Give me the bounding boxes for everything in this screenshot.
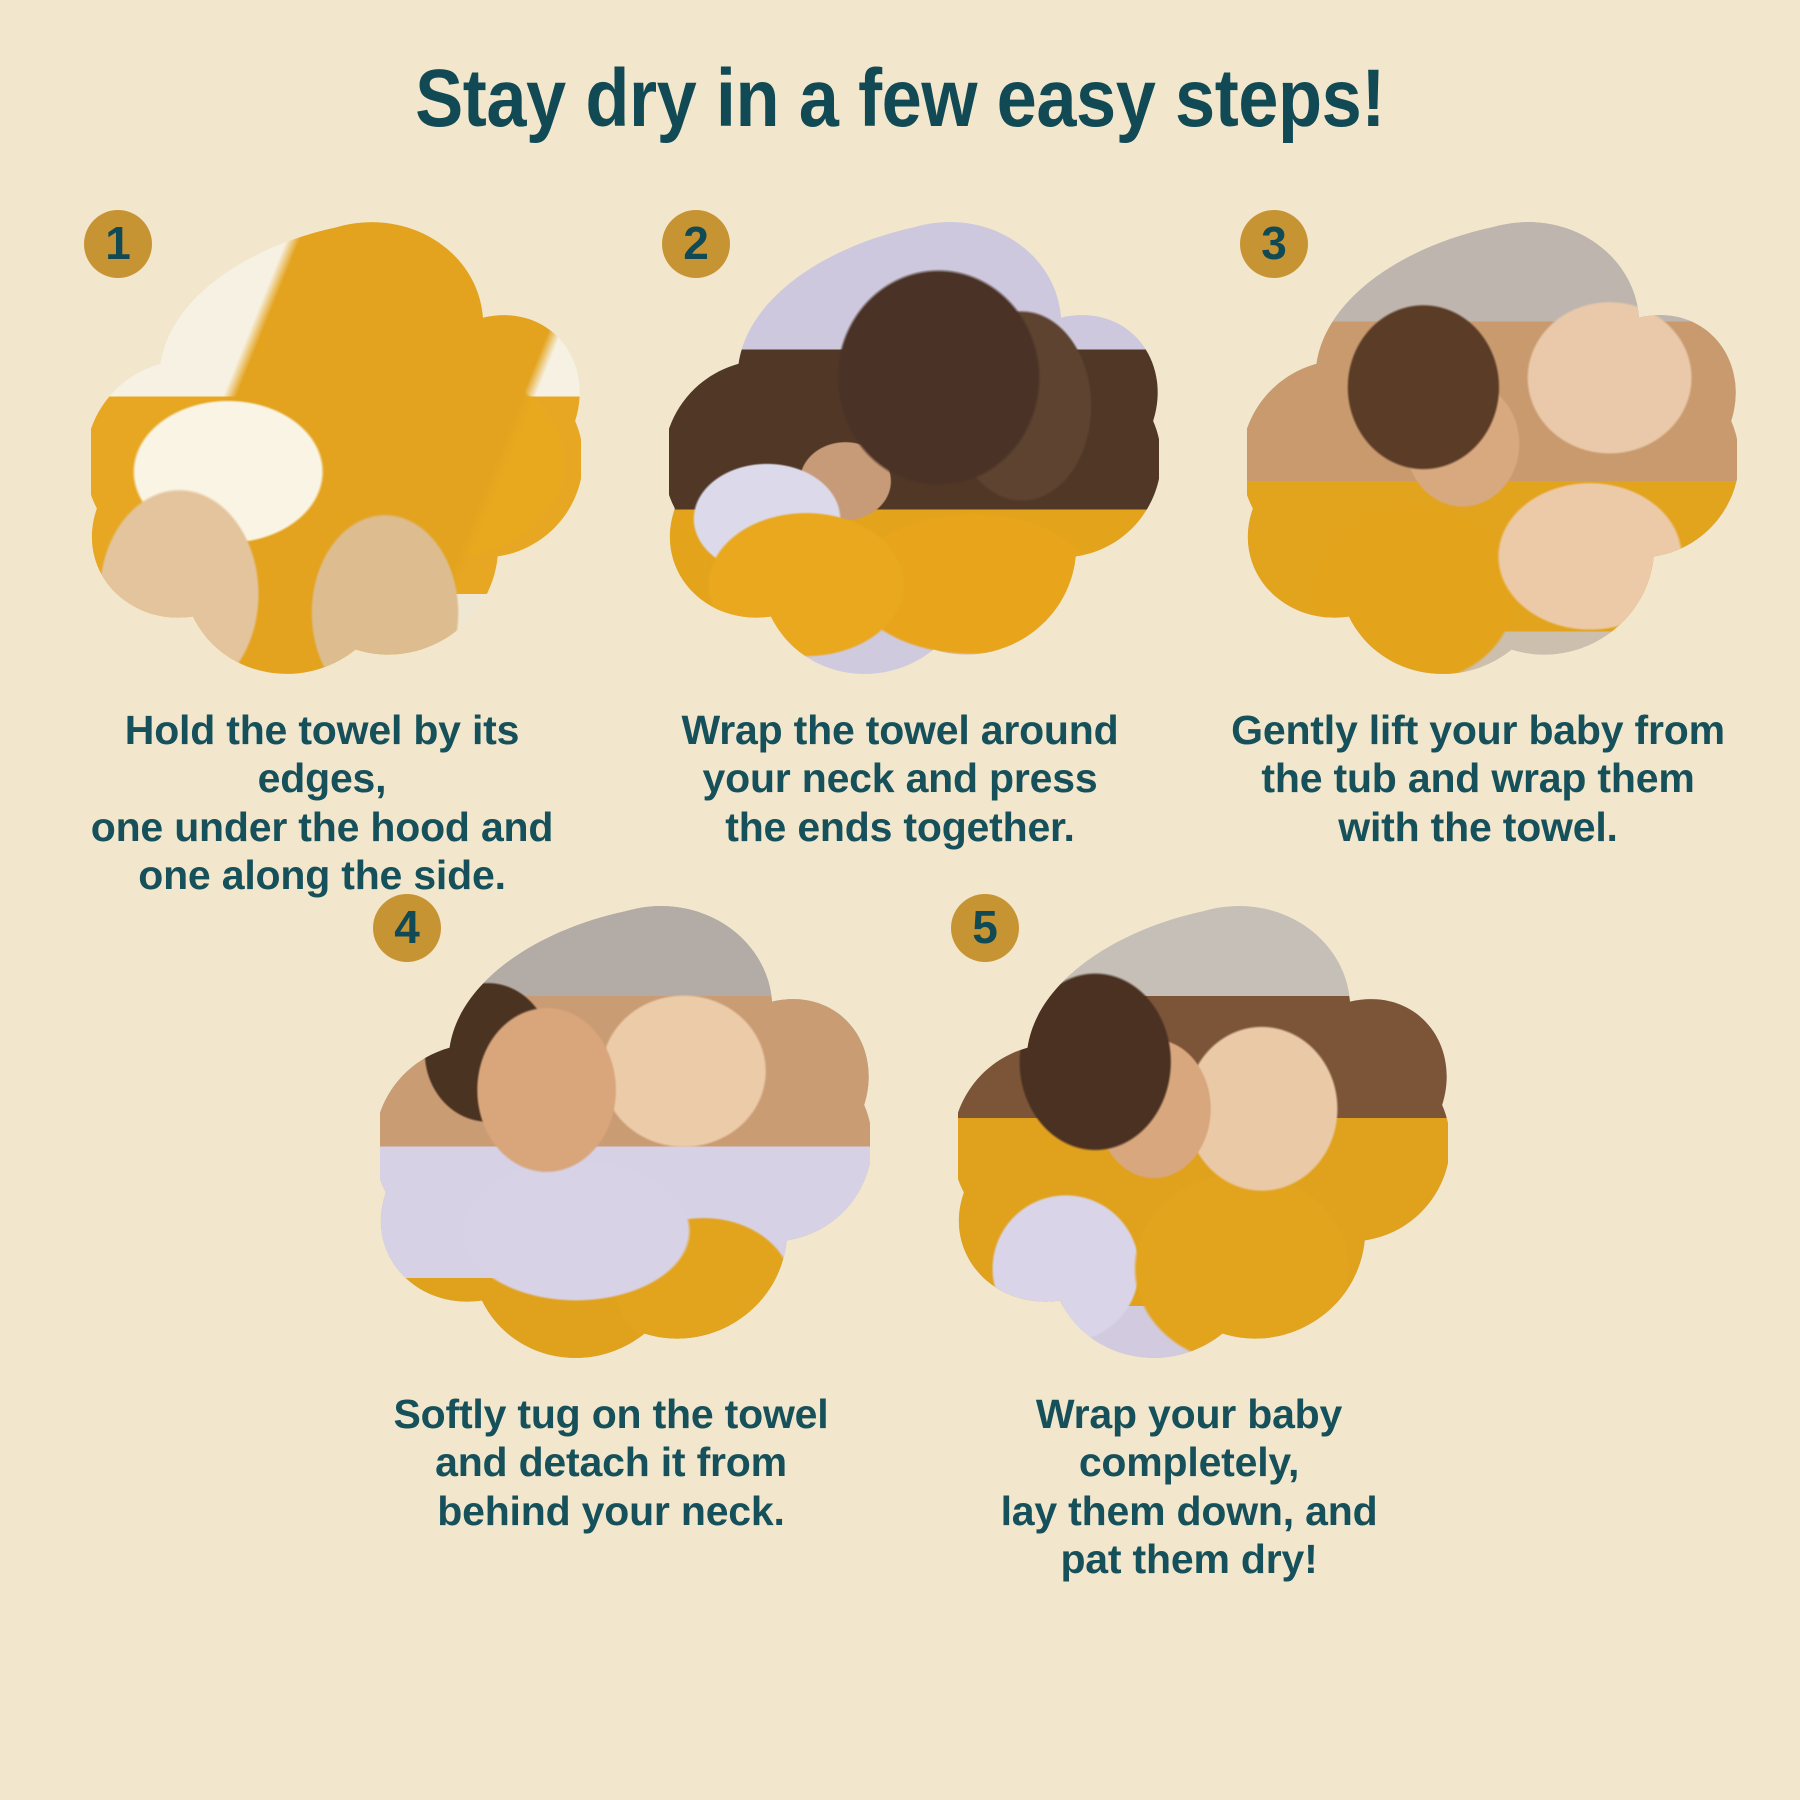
photo-art-2 bbox=[669, 218, 1159, 688]
photo-art-4 bbox=[380, 902, 870, 1372]
steps-row-bottom: 4 Softly tug on the towel and detach it … bbox=[0, 880, 1800, 1584]
photo-art-1 bbox=[91, 218, 581, 688]
caption-line: pat them dry! bbox=[924, 1535, 1454, 1583]
caption-line: one under the hood and bbox=[57, 803, 587, 851]
step-caption-1: Hold the towel by its edges, one under t… bbox=[57, 706, 587, 900]
step-image-3 bbox=[1247, 218, 1737, 688]
page-title: Stay dry in a few easy steps! bbox=[108, 52, 1692, 146]
step-image-2 bbox=[669, 218, 1159, 688]
step-card-4: 4 Softly tug on the towel and detach it … bbox=[331, 880, 891, 1584]
steps-row-top: 1 Hold the towel by its edges, one under… bbox=[0, 196, 1800, 900]
step-caption-5: Wrap your baby completely, lay them down… bbox=[924, 1390, 1454, 1584]
caption-line: Gently lift your baby from bbox=[1213, 706, 1743, 754]
caption-line: and detach it from bbox=[346, 1438, 876, 1486]
step-caption-4: Softly tug on the towel and detach it fr… bbox=[346, 1390, 876, 1535]
caption-line: Hold the towel by its edges, bbox=[57, 706, 587, 803]
caption-line: Wrap your baby completely, bbox=[924, 1390, 1454, 1487]
step-number-badge-4: 4 bbox=[373, 894, 441, 962]
caption-line: behind your neck. bbox=[346, 1487, 876, 1535]
step-caption-3: Gently lift your baby from the tub and w… bbox=[1213, 706, 1743, 851]
infographic-page: Stay dry in a few easy steps! 1 Hold the… bbox=[0, 0, 1800, 1800]
step-number-badge-5: 5 bbox=[951, 894, 1019, 962]
caption-line: Softly tug on the towel bbox=[346, 1390, 876, 1438]
photo-art-5 bbox=[958, 902, 1448, 1372]
caption-line: with the towel. bbox=[1213, 803, 1743, 851]
step-image-4 bbox=[380, 902, 870, 1372]
caption-line: lay them down, and bbox=[924, 1487, 1454, 1535]
step-card-3: 3 Gently lift your baby from the tub and… bbox=[1198, 196, 1758, 900]
caption-line: the ends together. bbox=[635, 803, 1165, 851]
step-card-5: 5 Wrap your baby completely, lay them do… bbox=[909, 880, 1469, 1584]
photo-art-3 bbox=[1247, 218, 1737, 688]
step-number-badge-3: 3 bbox=[1240, 210, 1308, 278]
caption-line: the tub and wrap them bbox=[1213, 754, 1743, 802]
caption-line: your neck and press bbox=[635, 754, 1165, 802]
step-image-5 bbox=[958, 902, 1448, 1372]
step-card-2: 2 Wrap the towel around your neck and pr… bbox=[620, 196, 1180, 900]
step-card-1: 1 Hold the towel by its edges, one under… bbox=[42, 196, 602, 900]
step-number-badge-2: 2 bbox=[662, 210, 730, 278]
step-number-badge-1: 1 bbox=[84, 210, 152, 278]
caption-line: Wrap the towel around bbox=[635, 706, 1165, 754]
step-caption-2: Wrap the towel around your neck and pres… bbox=[635, 706, 1165, 851]
step-image-1 bbox=[91, 218, 581, 688]
